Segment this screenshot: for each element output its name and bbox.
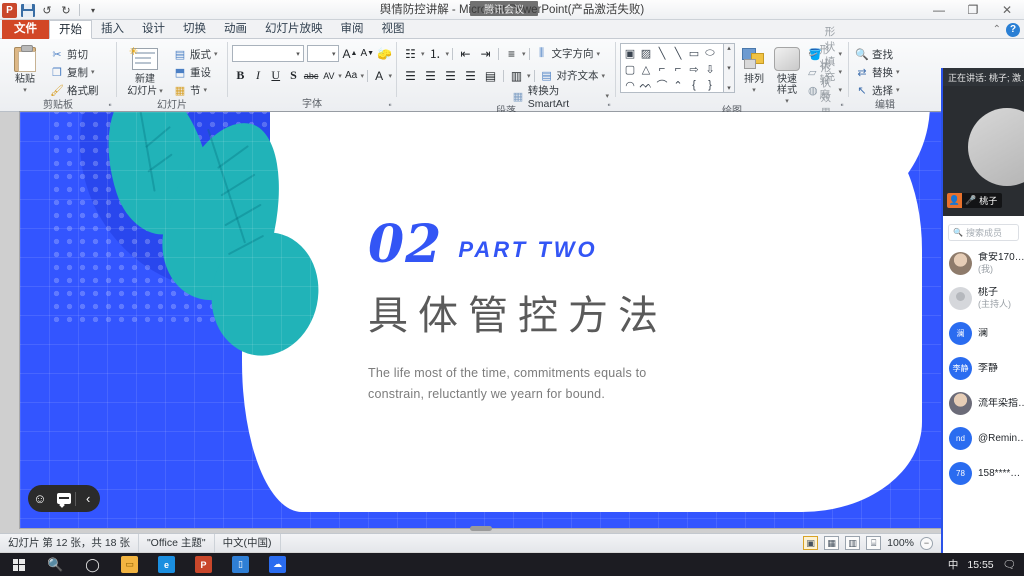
font-size-caret-icon[interactable]: ▾ — [332, 50, 336, 58]
search-icon[interactable]: 🔍 — [37, 553, 74, 576]
font-dialog-launcher[interactable]: ⁌ — [388, 101, 392, 110]
participant-row[interactable]: 流年染指… — [943, 386, 1024, 421]
select-label: 选择 — [872, 83, 893, 98]
text-shadow-button[interactable]: S — [285, 66, 302, 85]
quick-styles-caret-icon[interactable]: ▾ — [785, 97, 789, 105]
cursor-icon: ↖ — [855, 83, 869, 97]
bullets-icon[interactable]: ☷ — [401, 44, 420, 63]
font-color-button[interactable]: A — [371, 66, 388, 85]
canvas-scroll-handle[interactable] — [470, 526, 492, 531]
meeting-float-toolbar[interactable]: ☺ ‹ — [28, 485, 100, 512]
participant-info: 158****… — [978, 468, 1020, 480]
reset-label: 重设 — [190, 65, 211, 80]
search-icon: 🔍 — [953, 228, 963, 237]
close-button[interactable]: ✕ — [990, 0, 1024, 20]
new-slide-label-1: 新建 — [135, 74, 155, 85]
underline-button[interactable]: U — [267, 66, 284, 85]
video-nametag: 👤 🎤 桃子 — [947, 193, 1002, 208]
slide-canvas-area[interactable]: 02 PART TWO 具体管控方法 The life most of the … — [0, 112, 941, 533]
maximize-button[interactable]: ❐ — [956, 0, 990, 20]
shadow-label: S — [290, 68, 297, 83]
shape-item-17[interactable]: } — [702, 77, 718, 93]
tab-1[interactable]: 开始 — [49, 20, 92, 39]
shape-item-5[interactable]: ⬭ — [702, 45, 718, 61]
clipboard-group-label: 剪贴板 — [4, 99, 112, 112]
copy-label: 复制 — [67, 65, 88, 80]
italic-label: I — [256, 68, 260, 83]
shape-item-1[interactable]: ▨ — [638, 45, 654, 61]
paste-icon — [11, 45, 39, 73]
shape-item-7[interactable]: △ — [638, 61, 654, 77]
drawing-dialog-launcher[interactable]: ⁌ — [840, 101, 844, 110]
language-label[interactable]: 中文(中国) — [215, 534, 281, 553]
smartart-caret-icon[interactable]: ▾ — [605, 92, 609, 100]
shape-item-2[interactable]: ╲ — [654, 45, 670, 61]
collapse-icon[interactable]: ‹ — [76, 485, 100, 512]
arrange-icon — [740, 45, 768, 73]
char-spacing-caret-icon[interactable]: ▾ — [338, 72, 342, 80]
paste-button[interactable]: 粘贴 ▾ — [4, 43, 46, 94]
shape-item-14[interactable]: ⌒ — [654, 77, 670, 93]
new-slide-label-2: 幻灯片 — [127, 86, 157, 97]
character-spacing-button[interactable]: AV — [321, 66, 338, 85]
align-text-caret-icon[interactable]: ▾ — [602, 72, 606, 80]
clock[interactable]: 15:55 — [967, 559, 993, 571]
quick-styles-button[interactable]: 快速样式 ▾ — [773, 43, 801, 105]
chat-icon[interactable] — [52, 485, 76, 512]
replace-button[interactable]: ⇄ 替换 ▾ — [853, 63, 917, 81]
shape-item-15[interactable]: ⌃ — [670, 77, 686, 93]
replace-icon: ⇄ — [855, 65, 869, 79]
line-spacing-icon[interactable]: ≡ — [502, 44, 521, 63]
shapes-gallery-scrollbar[interactable]: ▴ ▾ ▾ — [724, 43, 735, 93]
participant-row[interactable]: 李静李静 — [943, 351, 1024, 386]
divider — [529, 48, 530, 60]
copy-icon: ❐ — [50, 65, 64, 79]
replace-caret-icon[interactable]: ▾ — [896, 68, 900, 76]
help-icon[interactable]: ? — [1006, 23, 1020, 37]
brush-icon: 🖌 — [50, 83, 64, 97]
participant-name: 食安170… — [978, 252, 1024, 264]
justify-icon[interactable]: ☰ — [461, 66, 480, 85]
participant-name: 澜 — [978, 328, 988, 340]
section-button[interactable]: ▦ 节 ▾ — [171, 81, 220, 99]
participant-info: 食安170…(我) — [978, 252, 1024, 275]
slide-body-line-1: The life most of the time, commitments e… — [368, 363, 788, 384]
participant-info: 澜 — [978, 328, 988, 340]
bullets-caret-icon[interactable]: ▾ — [421, 50, 425, 58]
tab-7[interactable]: 审阅 — [332, 20, 373, 39]
numbering-icon[interactable]: ⒈ — [426, 44, 445, 63]
normal-view-button[interactable]: ▣ — [803, 536, 818, 550]
bold-button[interactable]: B — [232, 66, 249, 85]
notification-icon[interactable]: 🗨 — [1003, 558, 1016, 571]
window-controls[interactable]: — ❐ ✕ — [922, 0, 1024, 20]
text-direction-caret-icon[interactable]: ▾ — [597, 50, 601, 58]
layout-label: 版式 — [190, 47, 211, 62]
columns-icon[interactable]: ▥ — [507, 66, 526, 85]
new-slide-button[interactable]: ✳ 新建 幻灯片 ▾ — [121, 43, 169, 97]
format-painter-button[interactable]: 🖌 格式刷 — [48, 81, 101, 99]
slide-body-line-2: constrain, reluctantly we yearn for boun… — [368, 384, 788, 405]
font-color-caret-icon[interactable]: ▾ — [389, 72, 393, 80]
char-spacing-label: AV — [323, 71, 334, 81]
participant-name: 流年染指… — [978, 398, 1024, 410]
arrange-caret-icon[interactable]: ▾ — [752, 86, 756, 94]
tencent-meeting-icon[interactable]: ☁ — [259, 553, 296, 576]
change-case-caret-icon[interactable]: ▾ — [360, 72, 364, 80]
reading-view-button[interactable]: ▥ — [845, 536, 860, 550]
find-button[interactable]: 🔍 查找 — [853, 45, 917, 63]
align-left-icon[interactable]: ☰ — [401, 66, 420, 85]
undo-icon[interactable]: ↺ — [39, 2, 55, 18]
shape-effects-icon: ◍ — [808, 83, 818, 97]
shapes-gallery[interactable]: ▣▨╲╲▭⬭▢△⌐⌐⇨⇩◠ᨓ⌒⌃{} — [620, 43, 724, 93]
cut-button[interactable]: ✂ 剪切 — [48, 45, 101, 63]
reset-button[interactable]: ⬒ 重设 — [171, 63, 220, 81]
avatar: 78 — [949, 462, 972, 485]
paragraph-dialog-launcher[interactable]: ⁌ — [607, 101, 611, 110]
avatar: 澜 — [949, 322, 972, 345]
line-spacing-caret-icon[interactable]: ▾ — [522, 50, 526, 58]
slide-body-text: The life most of the time, commitments e… — [368, 363, 788, 405]
participant-role: (主持人) — [978, 299, 1011, 310]
slide-surface[interactable]: 02 PART TWO 具体管控方法 The life most of the … — [20, 112, 941, 528]
tab-8[interactable]: 视图 — [373, 20, 414, 39]
text-direction-label: 文字方向 — [552, 46, 594, 61]
change-case-button[interactable]: Aa — [343, 66, 360, 85]
paste-caret-icon[interactable]: ▾ — [23, 86, 27, 94]
divider — [498, 48, 499, 60]
shape-item-0[interactable]: ▣ — [622, 45, 638, 61]
columns-caret-icon[interactable]: ▾ — [527, 72, 531, 80]
participant-role: (我) — [978, 264, 1024, 275]
ribbon-group-drawing: ▣▨╲╲▭⬭▢△⌐⌐⇨⇩◠ᨓ⌒⌃{} ▴ ▾ ▾ — [616, 39, 848, 111]
copy-button[interactable]: ❐ 复制 ▾ — [48, 63, 101, 81]
change-case-label: Aa — [345, 70, 357, 81]
avatar: nd — [949, 427, 972, 450]
participant-list[interactable]: 食安170…(我)桃子(主持人)澜澜李静李静流年染指…nd@Remin…7815… — [943, 246, 1024, 491]
ribbon-help-row: ⌃ ? — [993, 20, 1020, 39]
collapse-ribbon-icon[interactable]: ⌃ — [993, 24, 1001, 35]
align-right-icon[interactable]: ☰ — [441, 66, 460, 85]
underline-label: U — [271, 68, 280, 83]
arrange-label: 排列 — [744, 74, 764, 85]
powerpoint-icon[interactable]: P — [185, 553, 222, 576]
participant-row[interactable]: 食安170…(我) — [943, 246, 1024, 281]
shape-item-12[interactable]: ◠ — [622, 77, 638, 93]
align-text-label: 对齐文本 — [557, 68, 599, 83]
taskbar[interactable]: 🔍 ◯ ▭ e P ▯ ☁ 中 15:55 🗨 — [0, 553, 1024, 576]
zoom-out-button[interactable]: − — [920, 537, 933, 550]
format-painter-label: 格式刷 — [67, 83, 99, 98]
ribbon-tab-bar: 文件开始插入设计切换动画幻灯片放映审阅视图 — [0, 20, 1024, 39]
ribbon-group-font: ▾ ▾ A▲ A▼ 🧽 B I U S abc AV ▾ — [228, 39, 396, 111]
customize-qat-icon[interactable]: ▾ — [85, 2, 101, 18]
meeting-video-tile[interactable]: 👤 🎤 桃子 — [943, 86, 1024, 216]
status-bar: 幻灯片 第 12 张，共 18 张 "Office 主题" 中文(中国) ▣ ▦… — [0, 533, 941, 552]
participant-row[interactable]: 澜澜 — [943, 316, 1024, 351]
shapes-scroll-up-icon[interactable]: ▴ — [727, 44, 731, 52]
shrink-font-button[interactable]: A▼ — [360, 44, 374, 63]
avatar — [949, 252, 972, 275]
copy-caret-icon[interactable]: ▾ — [91, 68, 95, 76]
shape-item-11[interactable]: ⇩ — [702, 61, 718, 77]
redo-icon[interactable]: ↻ — [58, 2, 74, 18]
shapes-scroll-more-icon[interactable]: ▾ — [727, 84, 731, 92]
participant-info: @Remin… — [978, 433, 1024, 445]
align-center-icon[interactable]: ☰ — [421, 66, 440, 85]
shape-item-3[interactable]: ╲ — [670, 45, 686, 61]
tencent-meeting-panel[interactable]: 正在讲话: 桃子; 激… 👤 🎤 桃子 🔍 搜索成员 食安170…(我)桃子(主… — [941, 68, 1024, 553]
powerpoint-logo-icon: P — [2, 3, 17, 18]
ime-indicator[interactable]: 中 — [948, 557, 959, 572]
slide-count-label[interactable]: 幻灯片 第 12 张，共 18 张 — [0, 534, 139, 553]
tab-5[interactable]: 动画 — [215, 20, 256, 39]
clear-formatting-icon[interactable]: 🧽 — [377, 44, 392, 63]
clipboard-dialog-launcher[interactable]: ⁌ — [108, 101, 112, 110]
system-tray[interactable]: 中 15:55 🗨 — [948, 557, 1024, 572]
layout-button[interactable]: ▤ 版式 ▾ — [171, 45, 220, 63]
shape-effects-button[interactable]: ◍ 形状效果 ▾ — [806, 81, 844, 99]
ribbon-group-slides: ✳ 新建 幻灯片 ▾ ▤ 版式 ▾ ⬒ 重设 — [117, 39, 227, 111]
convert-smartart-button[interactable]: ▦ 转换为 SmartArt ▾ — [509, 87, 611, 105]
distribute-icon[interactable]: ▤ — [481, 66, 500, 85]
search-placeholder: 搜索成员 — [966, 226, 1002, 239]
edge-icon[interactable]: e — [148, 553, 185, 576]
divider — [534, 70, 535, 82]
mic-icon[interactable]: 🎤 — [965, 195, 976, 206]
slide-show-button[interactable]: ⌸ — [866, 536, 881, 550]
bold-label: B — [236, 68, 244, 83]
select-caret-icon[interactable]: ▾ — [896, 86, 900, 94]
participant-info: 李静 — [978, 363, 998, 375]
tab-4[interactable]: 切换 — [174, 20, 215, 39]
replace-label: 替换 — [872, 65, 893, 80]
part-heading-row: 02 PART TWO — [368, 220, 788, 269]
font-color-label: A — [375, 69, 383, 83]
divider — [367, 70, 368, 82]
shrink-font-label: A — [360, 48, 367, 59]
section-icon: ▦ — [173, 83, 187, 97]
minimize-button[interactable]: — — [922, 0, 956, 20]
italic-button[interactable]: I — [250, 66, 267, 85]
scissors-icon: ✂ — [50, 47, 64, 61]
section-caret-icon[interactable]: ▾ — [204, 86, 208, 94]
zoom-level-label[interactable]: 100% — [887, 537, 914, 549]
shape-outline-icon: ▱ — [808, 65, 816, 79]
new-slide-caret-icon[interactable]: ▾ — [159, 86, 163, 97]
tab-0[interactable]: 文件 — [2, 20, 49, 39]
arrange-button[interactable]: 排列 ▾ — [740, 43, 768, 94]
font-size-input[interactable]: ▾ — [307, 45, 340, 62]
decrease-indent-icon[interactable]: ⇤ — [456, 44, 475, 63]
save-icon[interactable] — [20, 2, 36, 18]
avatar: 李静 — [949, 357, 972, 380]
shape-item-8[interactable]: ⌐ — [654, 61, 670, 77]
slide-text-block[interactable]: 02 PART TWO 具体管控方法 The life most of the … — [368, 220, 788, 405]
participant-row[interactable]: nd@Remin… — [943, 421, 1024, 456]
ribbon-group-editing: 🔍 查找 ⇄ 替换 ▾ ↖ 选择 ▾ 编辑 — [849, 39, 921, 111]
participant-info: 流年染指… — [978, 398, 1024, 410]
strikethrough-button[interactable]: abc — [303, 66, 320, 85]
participant-row[interactable]: 桃子(主持人) — [943, 281, 1024, 316]
divider — [79, 4, 80, 16]
binoculars-icon: 🔍 — [855, 47, 869, 61]
shape-item-6[interactable]: ▢ — [622, 61, 638, 77]
paste-label: 粘贴 — [15, 74, 35, 85]
numbering-caret-icon[interactable]: ▾ — [446, 50, 450, 58]
meeting-tooltip-overlay: 腾讯会议 — [470, 1, 538, 16]
avatar — [949, 287, 972, 310]
status-bar-right: ▣ ▦ ▥ ⌸ 100% − — [803, 536, 941, 550]
shape-item-10[interactable]: ⇨ — [686, 61, 702, 77]
font-group-label: 字体 — [232, 98, 392, 111]
grow-font-label: A — [342, 47, 350, 61]
title-bar: P ↺ ↻ ▾ 舆情防控讲解 - Microsoft PowerPoint(产品… — [0, 0, 1024, 20]
emoji-icon[interactable]: ☺ — [28, 485, 52, 512]
slide-chinese-title: 具体管控方法 — [368, 283, 788, 341]
part-label: PART TWO — [458, 237, 597, 269]
layout-caret-icon[interactable]: ▾ — [214, 50, 218, 58]
shape-item-4[interactable]: ▭ — [686, 45, 702, 61]
participant-row[interactable]: 78158****… — [943, 456, 1024, 491]
grow-font-button[interactable]: A▲ — [342, 44, 357, 63]
font-name-caret-icon[interactable]: ▾ — [296, 50, 300, 58]
divider — [503, 70, 504, 82]
tab-3[interactable]: 设计 — [133, 20, 174, 39]
member-search-input[interactable]: 🔍 搜索成员 — [948, 224, 1019, 241]
cut-label: 剪切 — [67, 47, 88, 62]
shape-effects-caret-icon[interactable]: ▾ — [839, 86, 843, 94]
speaking-banner: 正在讲话: 桃子; 激… — [943, 68, 1024, 86]
section-label: 节 — [190, 83, 201, 98]
divider — [452, 48, 453, 60]
select-button[interactable]: ↖ 选择 ▾ — [853, 81, 917, 99]
app-icon[interactable]: ▯ — [222, 553, 259, 576]
avatar — [949, 392, 972, 415]
smartart-icon: ▦ — [511, 89, 525, 103]
text-direction-icon: ⫼ — [535, 47, 549, 61]
windows-start-icon[interactable] — [0, 553, 37, 576]
participant-name: 桃子 — [978, 287, 1011, 299]
slides-group-label: 幻灯片 — [121, 99, 223, 112]
participant-name: @Remin… — [978, 433, 1024, 445]
layout-icon: ▤ — [173, 47, 187, 61]
ribbon-group-paragraph: ☷▾ ⒈▾ ⇤ ⇥ ≡▾ ⫼ 文字方向 ▾ ☰ ☰ — [397, 39, 615, 111]
font-name-input[interactable]: ▾ — [232, 45, 304, 62]
shape-item-9[interactable]: ⌐ — [670, 61, 686, 77]
editing-group-label: 编辑 — [853, 99, 917, 112]
shape-item-13[interactable]: ᨓ — [638, 77, 654, 93]
quick-access-toolbar[interactable]: P ↺ ↻ ▾ — [2, 1, 101, 19]
shape-fill-caret-icon[interactable]: ▾ — [839, 50, 843, 58]
tab-2[interactable]: 插入 — [92, 20, 133, 39]
strikethrough-label: abc — [304, 71, 319, 81]
shape-item-16[interactable]: { — [686, 77, 702, 93]
align-text-icon: ▤ — [540, 69, 554, 83]
increase-indent-icon[interactable]: ⇥ — [476, 44, 495, 63]
participant-info: 桃子(主持人) — [978, 287, 1011, 310]
ribbon: 粘贴 ▾ ✂ 剪切 ❐ 复制 ▾ 🖌 格式刷 — [0, 39, 1024, 112]
participant-avatar-large — [968, 108, 1024, 186]
theme-label[interactable]: "Office 主题" — [139, 534, 215, 553]
shape-outline-caret-icon[interactable]: ▾ — [839, 68, 843, 76]
participant-name: 158****… — [978, 468, 1020, 480]
shapes-scroll-down-icon[interactable]: ▾ — [727, 64, 731, 72]
participant-name: 李静 — [978, 363, 998, 375]
slide-sorter-button[interactable]: ▦ — [824, 536, 839, 550]
new-slide-icon: ✳ — [131, 45, 159, 73]
reset-icon: ⬒ — [173, 65, 187, 79]
tab-6[interactable]: 幻灯片放映 — [256, 20, 332, 39]
video-participant-name: 桃子 — [979, 194, 997, 207]
part-number: 02 — [368, 220, 442, 269]
person-icon: 👤 — [947, 193, 962, 208]
quick-styles-icon — [773, 45, 801, 73]
text-direction-button[interactable]: ⫼ 文字方向 ▾ — [533, 45, 603, 63]
find-label: 查找 — [872, 47, 893, 62]
ribbon-group-clipboard: 粘贴 ▾ ✂ 剪切 ❐ 复制 ▾ 🖌 格式刷 — [0, 39, 116, 111]
quick-styles-label: 快速样式 — [773, 74, 801, 96]
file-explorer-icon[interactable]: ▭ — [111, 553, 148, 576]
cortana-icon[interactable]: ◯ — [74, 553, 111, 576]
